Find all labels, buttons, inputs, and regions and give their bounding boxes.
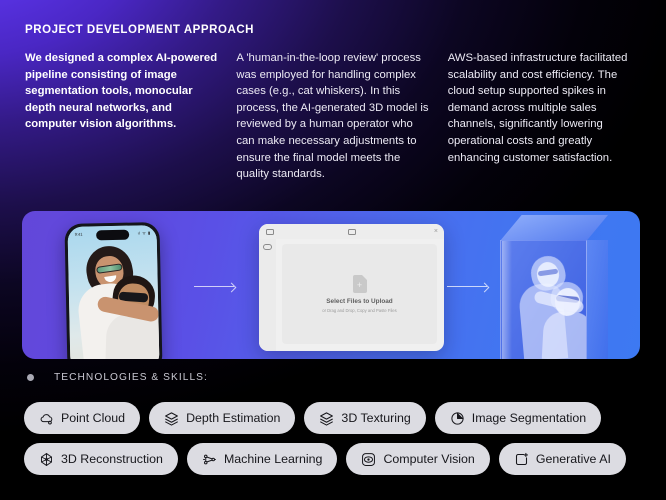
slide-root: PROJECT DEVELOPMENT APPROACH We designed… bbox=[0, 0, 666, 500]
cube-side-face bbox=[586, 240, 608, 359]
chip-computer-vision[interactable]: Computer Vision bbox=[346, 443, 489, 475]
workflow-illustration: 9:41 ıl ᯤ ▮ × Select Files to Upload or … bbox=[22, 211, 640, 359]
phone-notch bbox=[96, 230, 129, 241]
eye-target-icon bbox=[361, 452, 376, 467]
technologies-chip-list: Point Cloud Depth Estimation 3D Text bbox=[24, 402, 648, 475]
chip-label: Generative AI bbox=[536, 452, 611, 466]
chip-image-segmentation[interactable]: Image Segmentation bbox=[435, 402, 601, 434]
file-add-icon bbox=[353, 275, 367, 293]
phone-status-time: 9:41 bbox=[75, 232, 83, 237]
cloud-point-icon bbox=[39, 411, 54, 426]
window-icon-center bbox=[348, 229, 356, 235]
chip-label: Computer Vision bbox=[383, 452, 474, 466]
arrow-right-icon-1 bbox=[194, 286, 234, 287]
close-icon[interactable]: × bbox=[434, 227, 438, 236]
phone-screen: 9:41 ıl ᯤ ▮ bbox=[68, 225, 160, 359]
paragraph-human-in-the-loop: A 'human-in-the-loop review' process was… bbox=[236, 50, 429, 183]
arrow-right-icon-2 bbox=[447, 286, 487, 287]
chip-label: 3D Reconstruction bbox=[61, 452, 163, 466]
layers-icon bbox=[164, 411, 179, 426]
paragraph-pipeline: We designed a complex AI-powered pipelin… bbox=[25, 50, 218, 183]
chip-label: Image Segmentation bbox=[472, 411, 586, 425]
chip-point-cloud[interactable]: Point Cloud bbox=[24, 402, 140, 434]
window-icon-left bbox=[266, 229, 274, 235]
chip-generative-ai[interactable]: Generative AI bbox=[499, 443, 626, 475]
page-title: PROJECT DEVELOPMENT APPROACH bbox=[25, 24, 254, 36]
dropzone-subtitle: or Drag and Drop, Copy and Paste Files bbox=[322, 308, 396, 313]
dialog-titlebar: × bbox=[259, 224, 444, 239]
technologies-label: TECHNOLOGIES & SKILLS: bbox=[54, 372, 208, 383]
cube-front-face bbox=[500, 240, 587, 359]
cube-top-face bbox=[500, 215, 608, 241]
link-icon[interactable] bbox=[263, 244, 272, 250]
chip-label: 3D Texturing bbox=[341, 411, 410, 425]
crystal-cube bbox=[500, 215, 608, 359]
mesh-node-icon bbox=[39, 452, 54, 467]
chip-label: Depth Estimation bbox=[186, 411, 280, 425]
sparkle-frame-icon bbox=[514, 452, 529, 467]
chip-label: Machine Learning bbox=[224, 452, 323, 466]
chip-3d-texturing[interactable]: 3D Texturing bbox=[304, 402, 425, 434]
cube-gloss-highlight bbox=[502, 241, 512, 359]
file-dropzone[interactable]: Select Files to Upload or Drag and Drop,… bbox=[282, 244, 437, 344]
layers-icon bbox=[319, 411, 334, 426]
etched-person-b-body bbox=[542, 311, 587, 359]
text-columns: We designed a complex AI-powered pipelin… bbox=[25, 50, 645, 183]
chip-machine-learning[interactable]: Machine Learning bbox=[187, 443, 338, 475]
dialog-sidebar bbox=[259, 239, 276, 351]
neural-net-icon bbox=[202, 452, 217, 467]
dropzone-title: Select Files to Upload bbox=[326, 298, 392, 305]
phone-status-icons: ıl ᯤ ▮ bbox=[138, 230, 151, 236]
technologies-header: TECHNOLOGIES & SKILLS: bbox=[27, 372, 208, 383]
phone-mockup: 9:41 ıl ᯤ ▮ bbox=[64, 222, 162, 359]
chip-depth-estimation[interactable]: Depth Estimation bbox=[149, 402, 295, 434]
paragraph-aws-infrastructure: AWS-based infrastructure facilitated sca… bbox=[448, 50, 645, 183]
chip-label: Point Cloud bbox=[61, 411, 125, 425]
upload-dialog: × Select Files to Upload or Drag and Dro… bbox=[259, 224, 444, 351]
pie-segment-icon bbox=[450, 411, 465, 426]
bullet-dot-icon bbox=[27, 374, 34, 381]
chip-3d-reconstruction[interactable]: 3D Reconstruction bbox=[24, 443, 178, 475]
